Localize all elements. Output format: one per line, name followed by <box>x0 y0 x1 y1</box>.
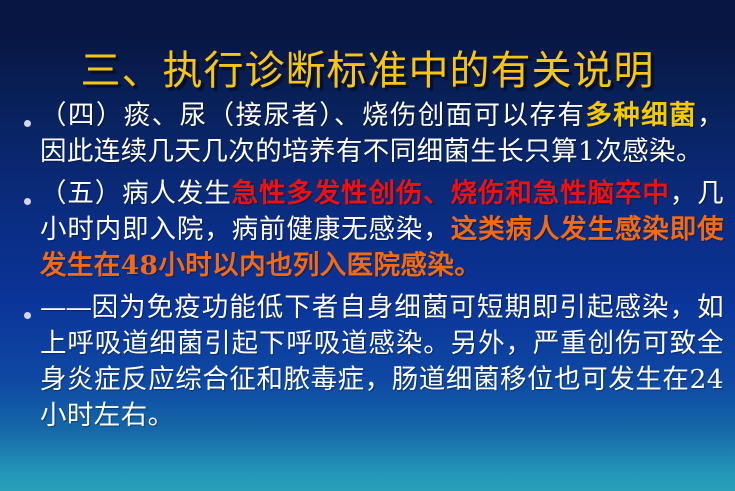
text-segment: 因为免疫功能低下者自身细菌可短期即引起感染，如上呼吸道细菌引起下呼吸道感染。另外… <box>40 292 724 431</box>
bullet-dot-icon <box>24 120 31 127</box>
bullet-paragraph-2: （五）病人发生急性多发性创伤、烧伤和急性脑卒中，几小时内即入院，病前健康无感染，… <box>40 176 724 284</box>
em-dash-prefix: —— <box>40 292 91 323</box>
bullet-item: ——因为免疫功能低下者自身细菌可短期即引起感染，如上呼吸道细菌引起下呼吸道感染。… <box>14 290 724 434</box>
text-segment: （四）痰、尿（接尿者）、烧伤创面可以存有 <box>40 100 585 131</box>
highlight-text-red: 急性多发性创伤、烧伤和急性脑卒中 <box>232 178 670 209</box>
bullet-marker <box>14 98 40 131</box>
bullet-item: （五）病人发生急性多发性创伤、烧伤和急性脑卒中，几小时内即入院，病前健康无感染，… <box>14 176 724 284</box>
bullet-paragraph-1: （四）痰、尿（接尿者）、烧伤创面可以存有多种细菌，因此连续几天几次的培养有不同细… <box>40 98 724 170</box>
bullet-paragraph-3: ——因为免疫功能低下者自身细菌可短期即引起感染，如上呼吸道细菌引起下呼吸道感染。… <box>40 290 724 434</box>
bullet-marker <box>14 176 40 209</box>
bullet-dot-icon <box>24 198 31 205</box>
bullet-item: （四）痰、尿（接尿者）、烧伤创面可以存有多种细菌，因此连续几天几次的培养有不同细… <box>14 98 724 170</box>
page-title: 三、执行诊断标准中的有关说明 <box>81 49 655 94</box>
bullet-dot-icon <box>24 312 31 319</box>
text-segment: （五）病人发生 <box>40 178 232 209</box>
presentation-slide: 三、执行诊断标准中的有关说明 （四）痰、尿（接尿者）、烧伤创面可以存有多种细菌，… <box>0 0 735 491</box>
highlight-text-yellow: 多种细菌 <box>585 100 697 131</box>
slide-body: （四）痰、尿（接尿者）、烧伤创面可以存有多种细菌，因此连续几天几次的培养有不同细… <box>14 98 724 440</box>
bullet-marker <box>14 290 40 323</box>
